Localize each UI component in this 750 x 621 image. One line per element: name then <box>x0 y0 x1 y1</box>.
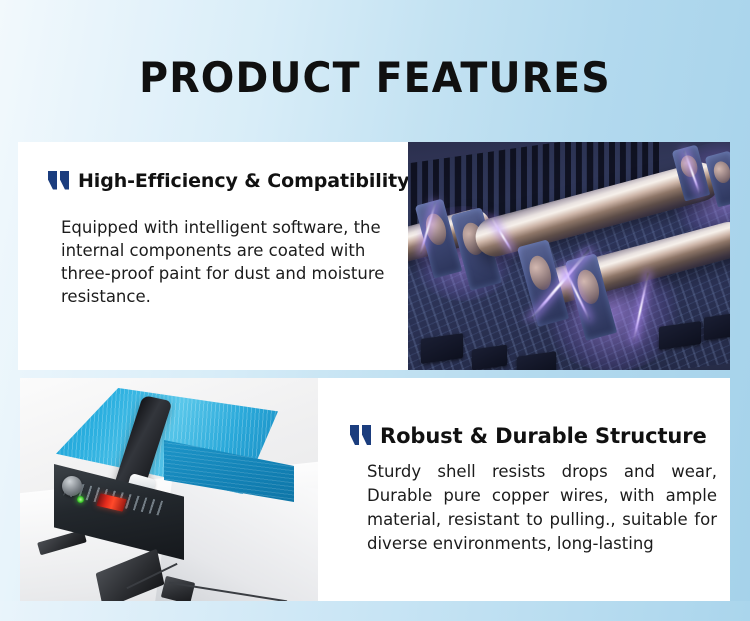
product-features-page: PRODUCT FEATURES High-Efficiency & Compa… <box>0 0 750 621</box>
feature-card-text-pane: Robust & Durable Structure Sturdy shell … <box>318 378 730 601</box>
blue-power-inverter-image <box>20 378 318 601</box>
bottom-background-strip <box>0 601 750 621</box>
feature-body-text: Equipped with intelligent software, the … <box>61 216 391 308</box>
feature-heading: High-Efficiency & Compatibility <box>78 170 409 192</box>
circuit-board-capacitors-image <box>408 142 730 370</box>
power-indicator-led <box>77 496 84 503</box>
feature-heading: Robust & Durable Structure <box>380 424 707 448</box>
feature-heading-row: High-Efficiency & Compatibility <box>48 170 394 192</box>
feature-card-high-efficiency: High-Efficiency & Compatibility Equipped… <box>18 142 730 370</box>
circuit-board-artwork <box>408 142 730 370</box>
quote-mark-icon <box>48 171 69 192</box>
quote-mark-icon <box>350 425 371 447</box>
feature-card-text-pane: High-Efficiency & Compatibility Equipped… <box>18 142 408 370</box>
feature-card-robust-structure: Robust & Durable Structure Sturdy shell … <box>20 378 730 601</box>
pcb-chip <box>704 313 730 341</box>
page-title: PRODUCT FEATURES <box>23 54 728 102</box>
feature-body-text: Sturdy shell resists drops and wear, Dur… <box>367 460 717 556</box>
feature-heading-row: Robust & Durable Structure <box>350 424 712 448</box>
